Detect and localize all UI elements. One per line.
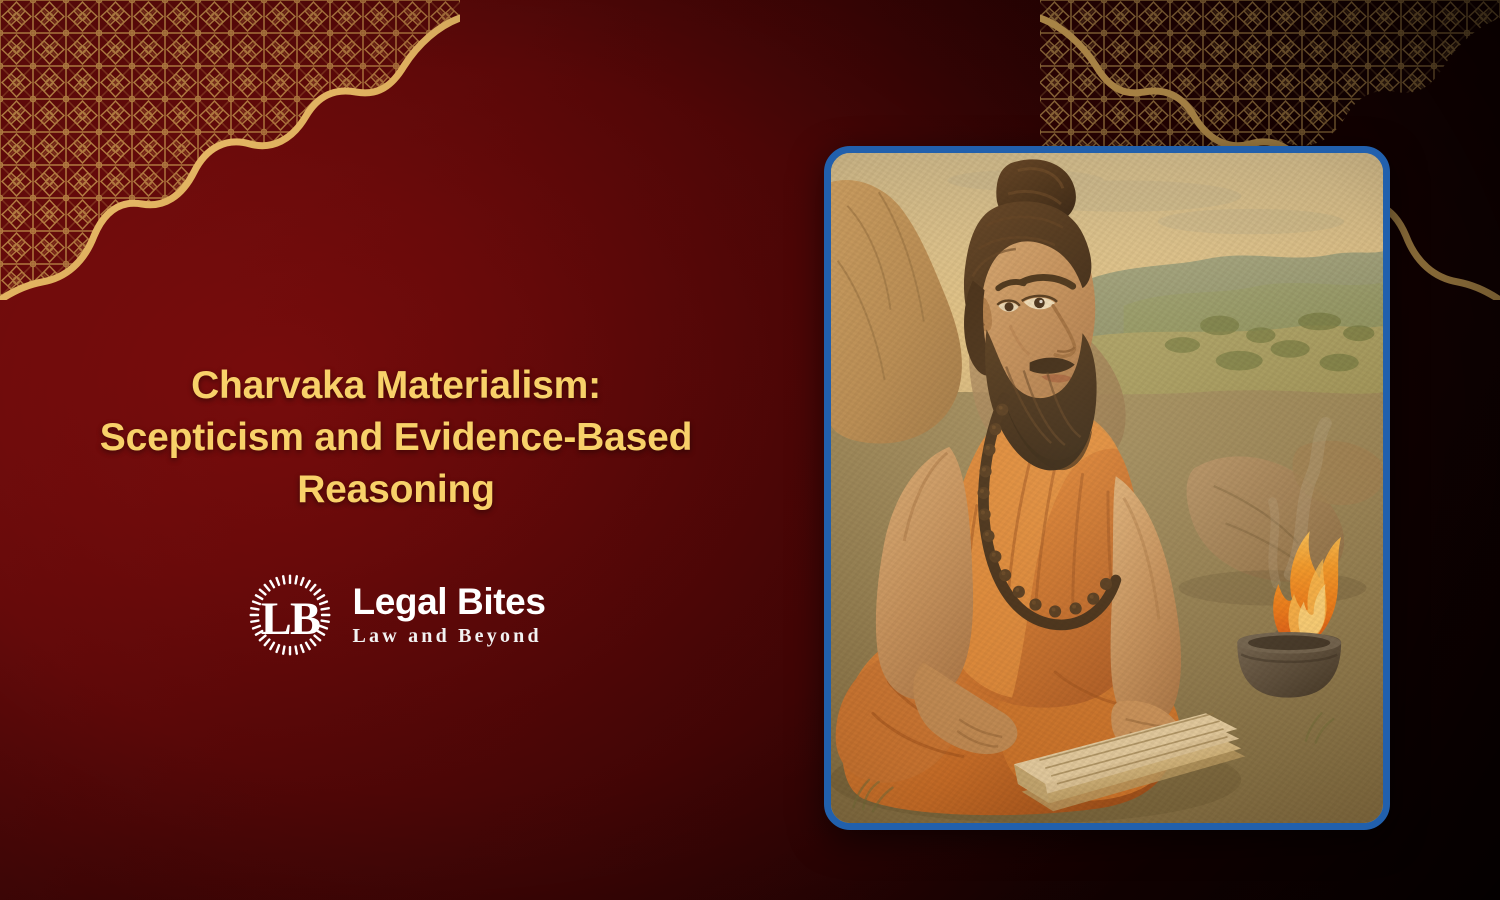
page-title: Charvaka Materialism: Scepticism and Evi… xyxy=(46,360,746,516)
brand-name: Legal Bites xyxy=(353,583,546,621)
title-line-3: Reasoning xyxy=(297,468,495,511)
sage-illustration xyxy=(831,153,1383,823)
artwork-frame[interactable] xyxy=(824,146,1390,830)
title-line-2: Scepticism and Evidence-Based xyxy=(100,416,692,459)
brand-logo[interactable]: LB Legal Bites Law and Beyond xyxy=(46,572,746,658)
legal-bites-monogram-icon: LB xyxy=(247,572,333,658)
banner-canvas: Charvaka Materialism: Scepticism and Evi… xyxy=(0,0,1500,900)
title-line-1: Charvaka Materialism: xyxy=(191,364,601,407)
brand-wordmark: Legal Bites Law and Beyond xyxy=(353,583,546,647)
headline-block: Charvaka Materialism: Scepticism and Evi… xyxy=(46,360,746,658)
brand-tagline: Law and Beyond xyxy=(353,626,546,646)
svg-text:LB: LB xyxy=(260,593,319,644)
